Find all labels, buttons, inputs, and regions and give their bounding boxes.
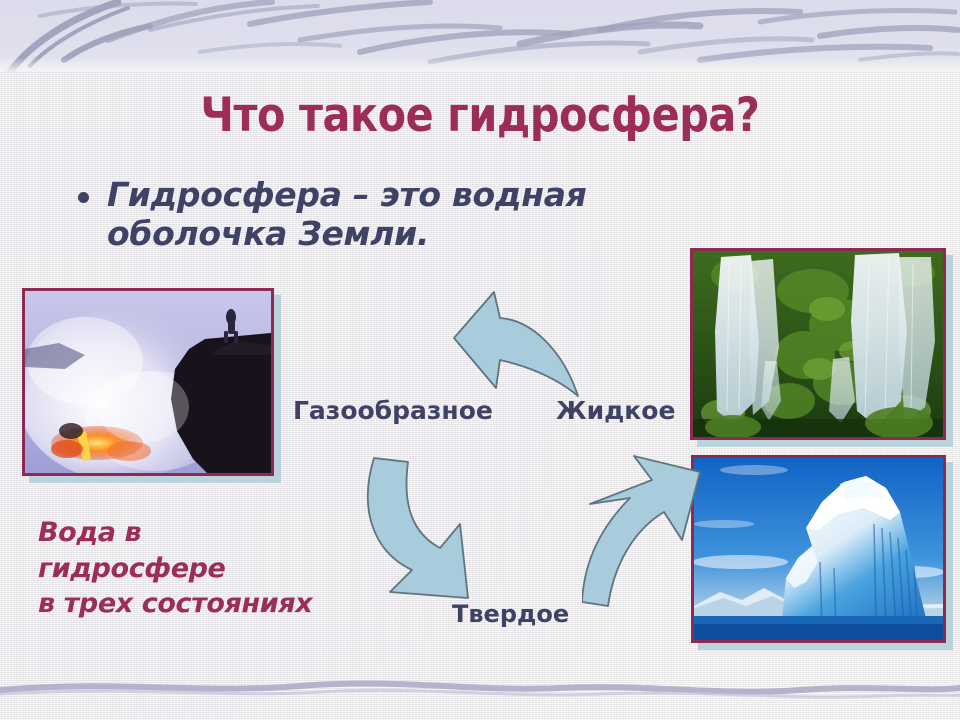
header-banner <box>0 0 960 72</box>
iceberg-image <box>694 458 943 640</box>
slide-canvas: Что такое гидросфера? Гидросфера – это в… <box>0 0 960 720</box>
iceberg-photo <box>691 455 946 643</box>
curved-arrow-up-right-icon <box>582 452 708 608</box>
page-title: Что такое гидросфера? <box>58 88 903 143</box>
banner-fade <box>0 58 960 72</box>
bullet-dot-icon <box>78 192 89 203</box>
bullet-text: Гидросфера – это водная оболочка Земли. <box>107 176 718 253</box>
caption-line-2: гидросфере <box>38 551 398 587</box>
volcano-steam-photo <box>22 288 274 476</box>
state-label-solid: Твердое <box>452 600 569 628</box>
bullet-item: Гидросфера – это водная оболочка Земли. <box>78 176 718 253</box>
waterfall-photo <box>690 248 946 440</box>
caption-line-1: Вода в <box>38 515 398 551</box>
waterfall-image <box>693 251 943 437</box>
volcano-steam-image <box>25 291 271 473</box>
state-label-gaseous: Газообразное <box>293 396 493 425</box>
footer-wave-decoration <box>0 660 960 710</box>
state-label-liquid: Жидкое <box>556 396 675 425</box>
caption-line-3: в трех состояниях <box>38 586 398 622</box>
caption-block: Вода в гидросфере в трех состояниях <box>38 515 398 622</box>
curved-arrow-left-up-icon <box>430 284 580 400</box>
